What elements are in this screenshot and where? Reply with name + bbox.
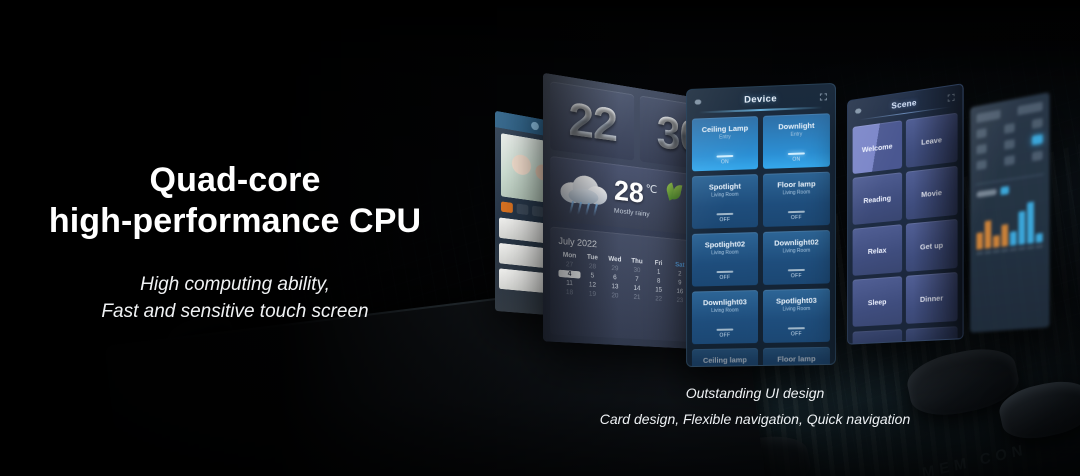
calendar-day[interactable]: 27 bbox=[558, 260, 580, 269]
device-card-toggle[interactable]: ON bbox=[763, 152, 830, 164]
device-card-toggle[interactable]: OFF bbox=[763, 327, 830, 338]
scene-card[interactable] bbox=[906, 326, 958, 344]
device-card-toggle[interactable]: OFF bbox=[763, 210, 830, 222]
device-card-state: OFF bbox=[692, 274, 758, 282]
calendar-dow: Fri bbox=[648, 259, 669, 268]
weather-temperature: 28 bbox=[614, 176, 644, 208]
device-card-room: Living Room bbox=[763, 306, 830, 313]
scene-card[interactable]: Reading bbox=[853, 172, 902, 225]
device-card-grid-next[interactable]: Ceiling lampFloor lamp bbox=[687, 347, 835, 366]
device-card-toggle[interactable]: OFF bbox=[763, 268, 830, 280]
device-card-name: Ceiling lamp bbox=[692, 355, 758, 365]
calendar-dow: Tue bbox=[582, 253, 604, 262]
slider-icon[interactable] bbox=[788, 152, 805, 155]
scene-card[interactable]: Welcome bbox=[853, 120, 902, 174]
expand-icon[interactable] bbox=[819, 92, 828, 101]
tile-icon[interactable] bbox=[1004, 139, 1014, 150]
tile-icon[interactable] bbox=[1004, 155, 1014, 166]
calendar-dow: Wed bbox=[604, 255, 625, 264]
calendar-day-today[interactable]: 4 bbox=[558, 270, 580, 279]
device-card[interactable]: DownlightEntryON bbox=[763, 113, 830, 169]
bar bbox=[993, 235, 1000, 248]
caption-line-1: Outstanding UI design bbox=[470, 385, 1040, 401]
tile-icon[interactable] bbox=[976, 144, 986, 155]
settings-icon[interactable] bbox=[854, 106, 862, 116]
device-card-room: Living Room bbox=[692, 191, 758, 199]
device-card-state: OFF bbox=[763, 272, 830, 280]
subtitle-line-2: Fast and sensitive touch screen bbox=[0, 298, 470, 326]
device-card-room: Living Room bbox=[692, 249, 758, 257]
calendar-day[interactable]: 22 bbox=[648, 295, 669, 303]
statistics-bar-chart bbox=[976, 195, 1042, 249]
scene-card-name: Welcome bbox=[862, 141, 893, 154]
tile-icon[interactable] bbox=[976, 110, 1000, 123]
slider-icon[interactable] bbox=[788, 327, 805, 329]
bar bbox=[1027, 201, 1034, 244]
device-card-room: Living Room bbox=[763, 247, 830, 255]
camera-icon bbox=[531, 121, 539, 130]
scene-card[interactable]: Relax bbox=[853, 224, 902, 276]
statistics-icon-grid[interactable] bbox=[970, 92, 1049, 183]
slider-icon[interactable] bbox=[788, 211, 805, 214]
calendar-day[interactable]: 11 bbox=[558, 279, 580, 288]
scene-card[interactable]: Get up bbox=[906, 219, 958, 272]
device-card-room: Entry bbox=[763, 130, 830, 139]
scene-card[interactable]: Movie bbox=[906, 166, 958, 220]
slider-icon[interactable] bbox=[788, 269, 805, 271]
scene-card-name: Leave bbox=[921, 135, 942, 147]
screen-scene[interactable]: Scene WelcomeLeaveReadingMovieRelaxGet u… bbox=[847, 83, 963, 345]
device-card[interactable]: Floor lampLiving RoomOFF bbox=[763, 172, 830, 227]
device-card-state: OFF bbox=[692, 216, 758, 224]
device-card-name: Floor lamp bbox=[763, 354, 830, 364]
device-card-room: Living Room bbox=[692, 307, 758, 314]
calendar-day[interactable]: 8 bbox=[648, 277, 669, 286]
ui-screen-stack: 22 30 28 ℃ Mostly rainy bbox=[480, 78, 1080, 388]
tile-icon[interactable] bbox=[976, 128, 986, 139]
calendar-day[interactable]: 15 bbox=[648, 286, 669, 294]
slider-icon[interactable] bbox=[717, 329, 734, 331]
calendar-day[interactable]: 5 bbox=[582, 272, 604, 281]
device-card-name: Spotlight02 bbox=[692, 239, 758, 250]
bar bbox=[1019, 211, 1026, 245]
intercom-unlock-icon[interactable] bbox=[501, 201, 513, 213]
device-card-state: ON bbox=[692, 158, 758, 166]
scene-card[interactable] bbox=[853, 329, 902, 344]
scene-card-name: Sleep bbox=[868, 297, 887, 307]
calendar-dow: Mon bbox=[558, 251, 580, 260]
calendar-day[interactable]: 7 bbox=[627, 275, 648, 284]
rain-cloud-icon bbox=[558, 166, 610, 217]
screen-device[interactable]: Device Ceiling LampEntryONDownlightEntry… bbox=[686, 83, 836, 367]
device-card-state: OFF bbox=[763, 331, 830, 338]
clock-hours: 22 bbox=[568, 90, 617, 152]
scene-title: Scene bbox=[891, 97, 916, 111]
device-card[interactable]: Ceiling LampEntryON bbox=[692, 116, 758, 171]
calendar-day[interactable]: 12 bbox=[582, 281, 604, 290]
device-card-toggle[interactable]: OFF bbox=[692, 212, 758, 224]
device-card[interactable]: Spotlight03Living RoomOFF bbox=[763, 288, 830, 343]
hero-copy: Quad-core high-performance CPU High comp… bbox=[0, 160, 470, 326]
device-card-toggle[interactable]: OFF bbox=[692, 328, 758, 339]
device-card-toggle[interactable]: ON bbox=[692, 154, 758, 166]
headline-line-1: Quad-core bbox=[0, 160, 470, 201]
scene-card-name: Relax bbox=[868, 245, 887, 256]
slider-icon[interactable] bbox=[717, 155, 734, 158]
intercom-mute-icon[interactable] bbox=[517, 204, 529, 216]
clock-hours-tile: 22 bbox=[550, 81, 634, 160]
screen-statistics[interactable] bbox=[970, 92, 1049, 333]
device-card-state: OFF bbox=[763, 214, 830, 222]
scene-card-name: Dinner bbox=[920, 293, 943, 304]
calendar-dow: Thu bbox=[627, 257, 648, 266]
device-card[interactable]: Ceiling lamp bbox=[692, 348, 758, 366]
device-card-name: Downlight02 bbox=[763, 237, 830, 248]
slider-icon[interactable] bbox=[717, 213, 734, 215]
scene-card-grid[interactable]: WelcomeLeaveReadingMovieRelaxGet upSleep… bbox=[848, 107, 963, 332]
device-card-room: Entry bbox=[692, 133, 758, 141]
tile-icon[interactable] bbox=[1018, 102, 1043, 116]
device-card-grid[interactable]: Ceiling LampEntryONDownlightEntryONSpotl… bbox=[687, 108, 835, 349]
weather-unit: ℃ bbox=[646, 182, 658, 196]
device-card-toggle[interactable]: OFF bbox=[692, 270, 758, 282]
bar bbox=[976, 232, 982, 250]
page-title: Quad-core high-performance CPU bbox=[0, 160, 470, 243]
tile-icon[interactable] bbox=[1032, 150, 1043, 161]
headline-line-2: high-performance CPU bbox=[0, 201, 470, 242]
device-card[interactable]: Spotlight02Living RoomOFF bbox=[692, 232, 758, 287]
scene-card-name: Get up bbox=[920, 240, 943, 251]
calendar-day[interactable]: 28 bbox=[582, 262, 604, 271]
device-card-name: Spotlight03 bbox=[763, 295, 830, 305]
bar bbox=[1001, 224, 1008, 247]
calendar-day[interactable]: 6 bbox=[604, 273, 625, 282]
device-card[interactable]: Downlight02Living RoomOFF bbox=[763, 230, 830, 285]
device-card[interactable]: Downlight03Living RoomOFF bbox=[692, 290, 758, 344]
device-card-state: ON bbox=[763, 156, 830, 164]
calendar-month-label: July 2022 bbox=[558, 235, 597, 249]
subtitle-line-1: High computing ability, bbox=[0, 271, 470, 299]
calendar-day[interactable]: 14 bbox=[627, 284, 648, 293]
tile-icon-active[interactable] bbox=[1032, 134, 1043, 145]
slider-icon[interactable] bbox=[717, 271, 734, 273]
caption-line-2: Card design, Flexible navigation, Quick … bbox=[470, 411, 1040, 427]
device-card-room: Living Room bbox=[763, 189, 830, 197]
bottom-captions: Outstanding UI design Card design, Flexi… bbox=[470, 385, 1040, 427]
bar bbox=[1010, 231, 1017, 246]
device-card-state: OFF bbox=[692, 332, 758, 339]
device-card[interactable]: SpotlightLiving RoomOFF bbox=[692, 174, 758, 229]
expand-icon[interactable] bbox=[947, 92, 956, 102]
leaf-icon bbox=[667, 183, 684, 205]
tile-icon[interactable] bbox=[1032, 118, 1043, 129]
hero-subtitle: High computing ability, Fast and sensiti… bbox=[0, 271, 470, 326]
scene-card-name: Reading bbox=[863, 193, 891, 205]
calendar-day[interactable]: 21 bbox=[627, 293, 648, 301]
calendar-day[interactable]: 30 bbox=[627, 266, 648, 275]
bar bbox=[1036, 233, 1043, 243]
calendar-day[interactable]: 1 bbox=[648, 268, 669, 277]
scene-card[interactable]: Leave bbox=[906, 113, 958, 168]
calendar-day[interactable]: 13 bbox=[604, 282, 625, 291]
scene-card-name: Movie bbox=[921, 187, 942, 198]
settings-icon[interactable] bbox=[694, 97, 703, 106]
intercom-hangup-icon[interactable] bbox=[532, 206, 543, 218]
bar bbox=[985, 221, 991, 249]
device-card[interactable]: Floor lamp bbox=[763, 347, 830, 366]
tile-icon[interactable] bbox=[976, 160, 986, 170]
calendar-day[interactable]: 20 bbox=[604, 292, 625, 301]
device-title: Device bbox=[744, 93, 777, 105]
scene-card[interactable]: Dinner bbox=[906, 272, 958, 324]
calendar-day[interactable]: 29 bbox=[604, 264, 625, 273]
scene-card[interactable]: Sleep bbox=[853, 276, 902, 327]
device-card-name: Downlight03 bbox=[692, 297, 758, 307]
calendar-day[interactable]: 19 bbox=[582, 290, 604, 299]
tile-icon[interactable] bbox=[1004, 123, 1014, 134]
calendar-day[interactable]: 18 bbox=[558, 288, 580, 297]
